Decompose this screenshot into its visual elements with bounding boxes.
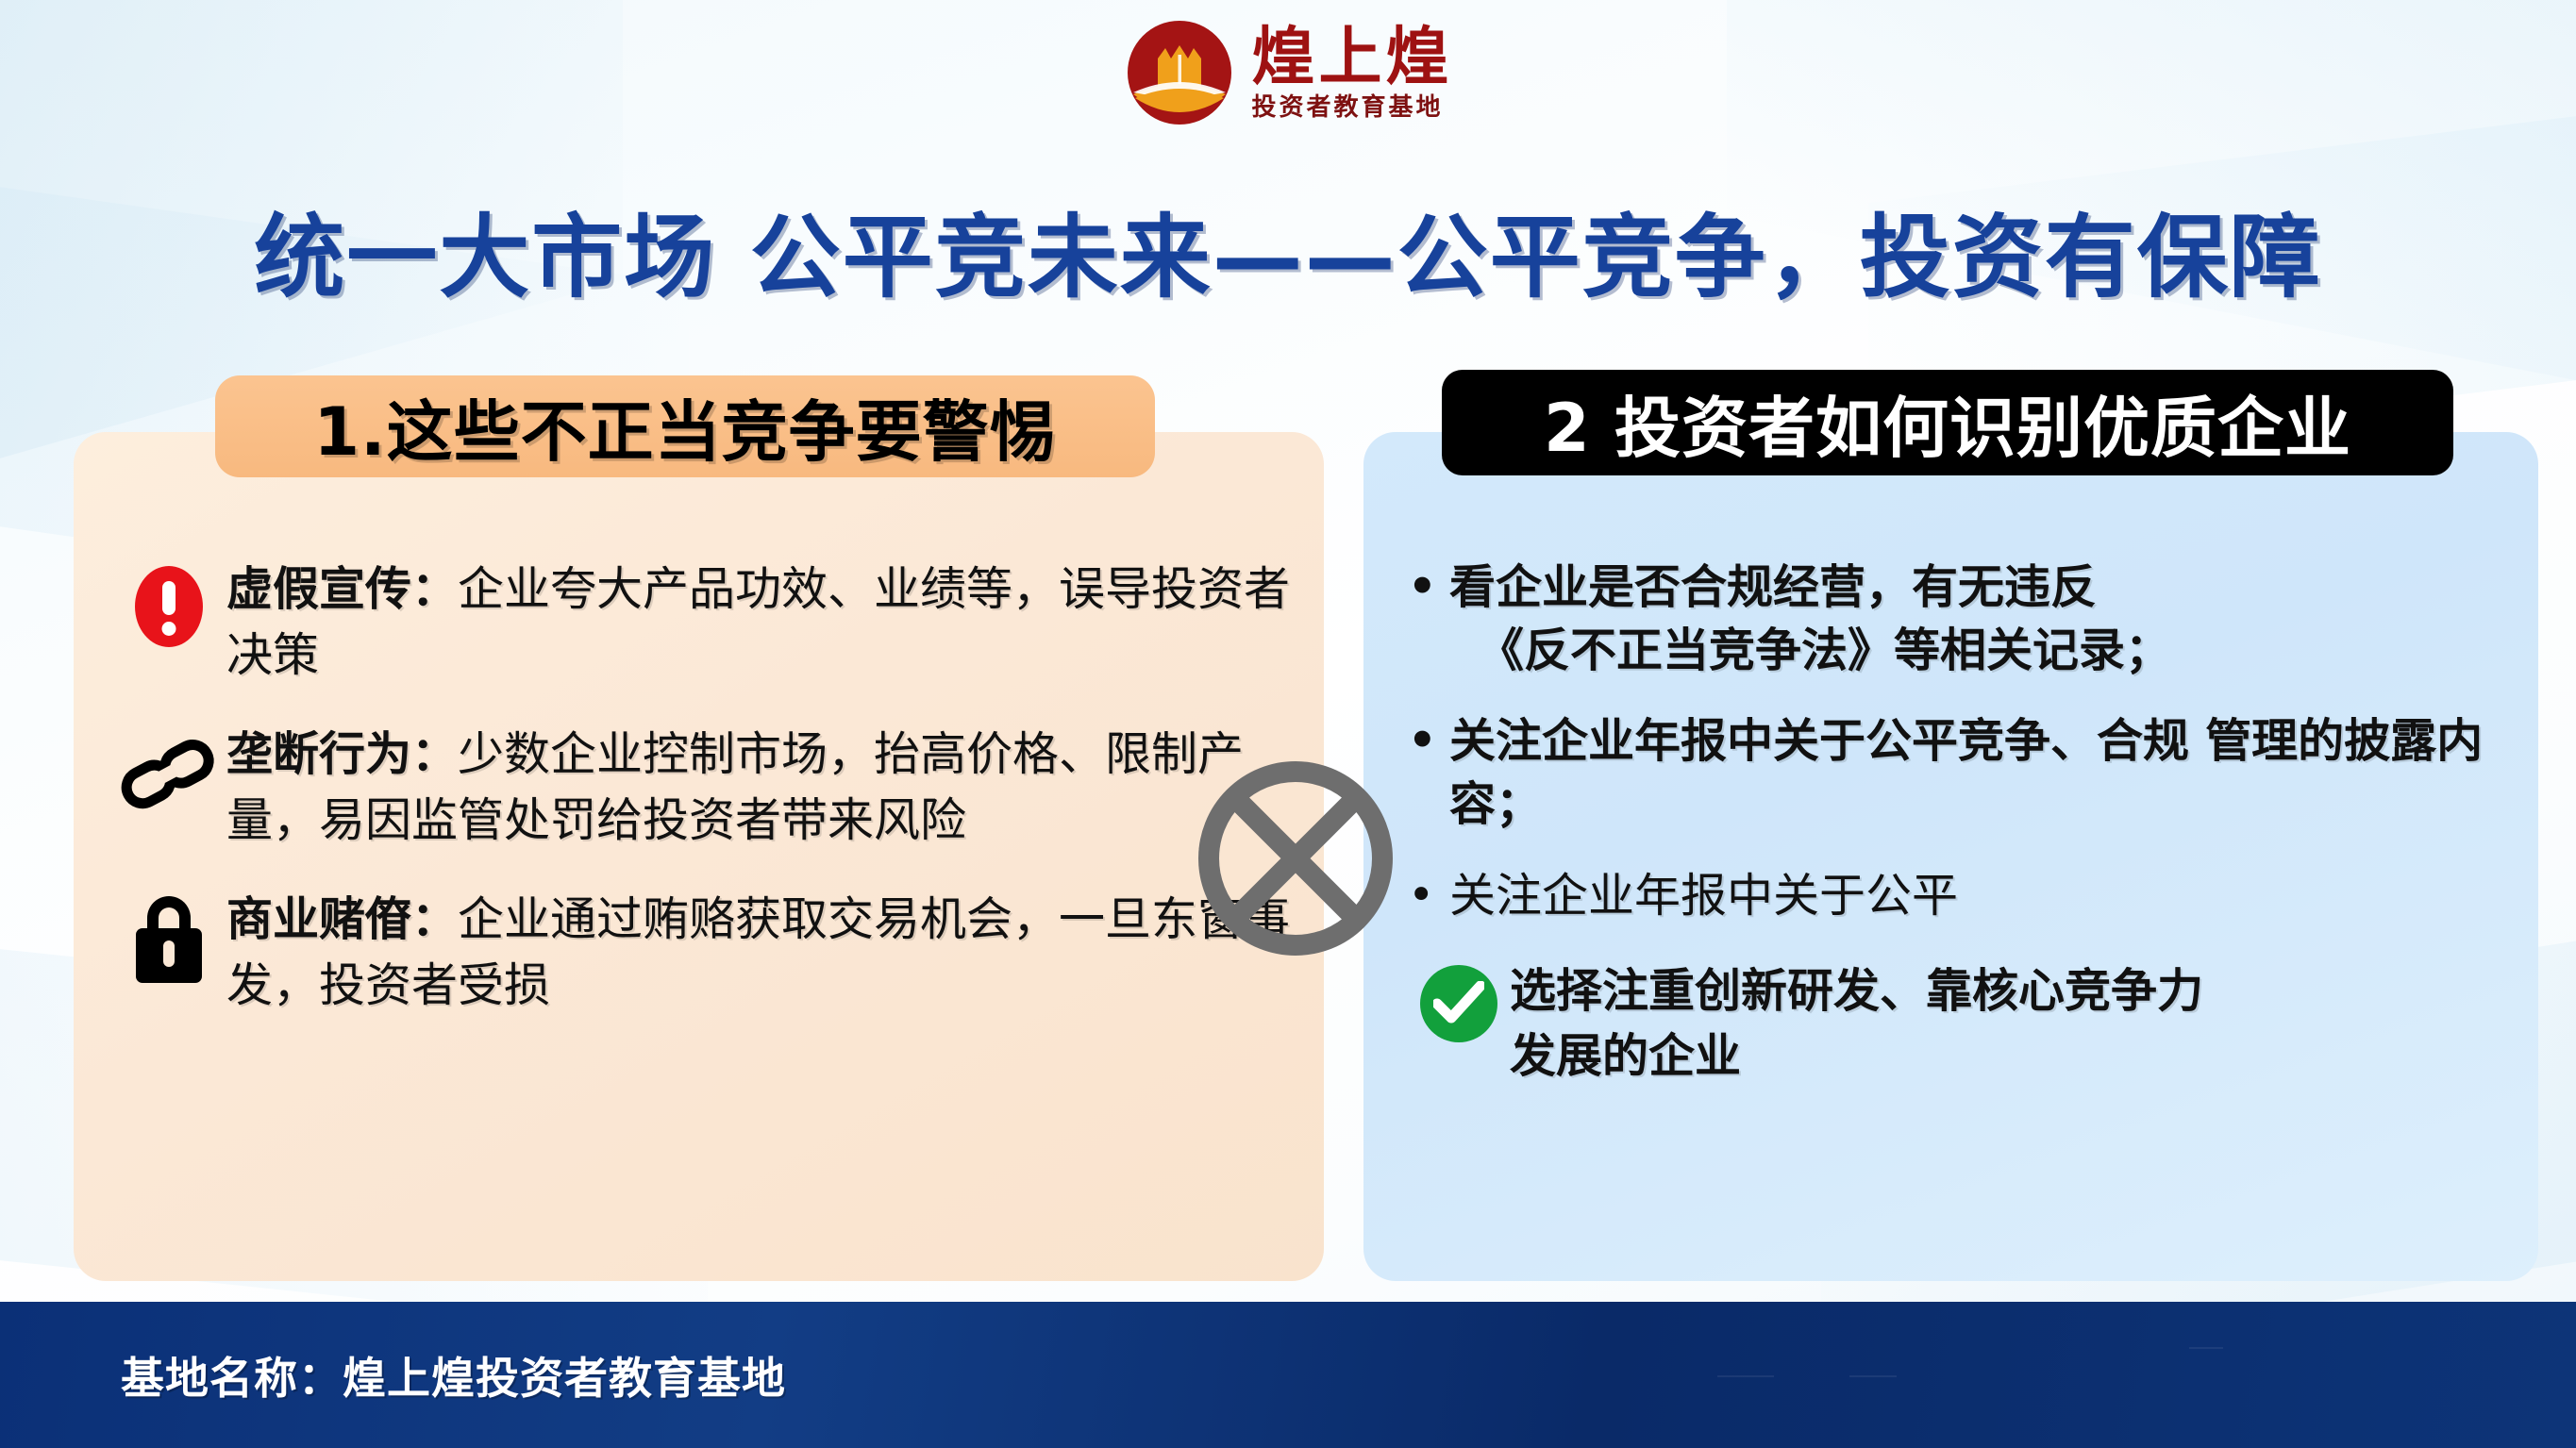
highlight-line-1: 选择注重创新研发、靠核心竞争力 (1510, 964, 2203, 1018)
list-item: 垄断行为：少数企业控制市场，抬高价格、限制产量，易因监管处罚给投资者带来风险 (111, 722, 1300, 853)
bullet-line-1: 看企业是否合规经营，有无违反 (1449, 560, 2097, 614)
footer-deco-line (2189, 1347, 2223, 1349)
brand-logo: 煌上煌 投资者教育基地 (0, 17, 2576, 128)
bullet-line-1: 关注企业年报中关于公平竞争、合规 (1449, 714, 2189, 768)
identify-list: • 看企业是否合规经营，有无违反 《反不正当竞争法》等相关记录； • 关注企业年… (1408, 557, 2531, 1089)
logo-sub-text: 投资者教育基地 (1252, 95, 1444, 120)
list-item-text: 看企业是否合规经营，有无违反 《反不正当竞争法》等相关记录； (1449, 557, 2171, 682)
left-card-header: 1.这些不正当竞争要警惕 (215, 375, 1155, 477)
bullet-line-2: 《反不正当竞争法》等相关记录； (1449, 620, 2171, 683)
risk-list: 虚假宣传：企业夸大产品功效、业绩等，误导投资者决策 垄断行为：少数企业控制市场，… (111, 557, 1300, 1052)
list-item-text: 虚假宣传：企业夸大产品功效、业绩等，误导投资者决策 (226, 557, 1300, 688)
chain-link-icon (111, 722, 226, 818)
highlight-line-2: 发展的企业 (1510, 1029, 1741, 1083)
list-item: • 看企业是否合规经营，有无违反 《反不正当竞争法》等相关记录； (1408, 557, 2531, 682)
highlight-item: 选择注重创新研发、靠核心竞争力 发展的企业 (1408, 959, 2531, 1089)
list-item: • 关注企业年报中关于公平竞争、合规 管理的披露内容； (1408, 710, 2531, 836)
check-circle-icon (1408, 959, 1510, 1042)
bullet-line-1: 关注企业年报中关于公平 (1449, 869, 1958, 923)
list-item-label: 垄断行为： (226, 727, 458, 781)
bullet-marker: • (1408, 710, 1449, 772)
bullet-marker: • (1408, 865, 1449, 926)
page-title: 统一大市场 公平竞未来——公平竞争，投资有保障 (0, 184, 2576, 315)
highlight-text: 选择注重创新研发、靠核心竞争力 发展的企业 (1510, 959, 2203, 1089)
right-card-header: 2 投资者如何识别优质企业 (1442, 370, 2453, 475)
bullet-marker: • (1408, 557, 1449, 618)
list-item: 商业赌傄：企业通过贿赂获取交易机会，一旦东窗事发，投资者受损 (111, 887, 1300, 1018)
circle-x-icon (1192, 755, 1399, 962)
footer-deco-line (1717, 1375, 1774, 1377)
slide-canvas: 煌上煌 投资者教育基地 统一大市场 公平竞未来——公平竞争，投资有保障 1.这些… (0, 0, 2576, 1448)
logo-main-text: 煌上煌 (1252, 25, 1453, 89)
list-item-text: 垄断行为：少数企业控制市场，抬高价格、限制产量，易因监管处罚给投资者带来风险 (226, 722, 1300, 853)
lock-icon (111, 887, 226, 983)
exclamation-circle-icon (111, 557, 226, 647)
crown-shield-icon (1124, 17, 1235, 128)
list-item-text: 关注企业年报中关于公平竞争、合规 管理的披露内容； (1449, 710, 2531, 836)
footer-bar: 基地名称：煌上煌投资者教育基地 (0, 1302, 2576, 1448)
list-item-label: 商业赌傄： (226, 892, 458, 946)
list-item: • 关注企业年报中关于公平 (1408, 865, 2531, 928)
logo-wordmark: 煌上煌 投资者教育基地 (1252, 25, 1453, 120)
list-item: 虚假宣传：企业夸大产品功效、业绩等，误导投资者决策 (111, 557, 1300, 688)
footer-deco-line (1849, 1375, 1897, 1377)
list-item-text: 商业赌傄：企业通过贿赂获取交易机会，一旦东窗事发，投资者受损 (226, 887, 1300, 1018)
list-item-text: 关注企业年报中关于公平 (1449, 865, 1958, 928)
footer-label: 基地名称：煌上煌投资者教育基地 (121, 1344, 786, 1406)
list-item-label: 虚假宣传： (226, 562, 458, 616)
